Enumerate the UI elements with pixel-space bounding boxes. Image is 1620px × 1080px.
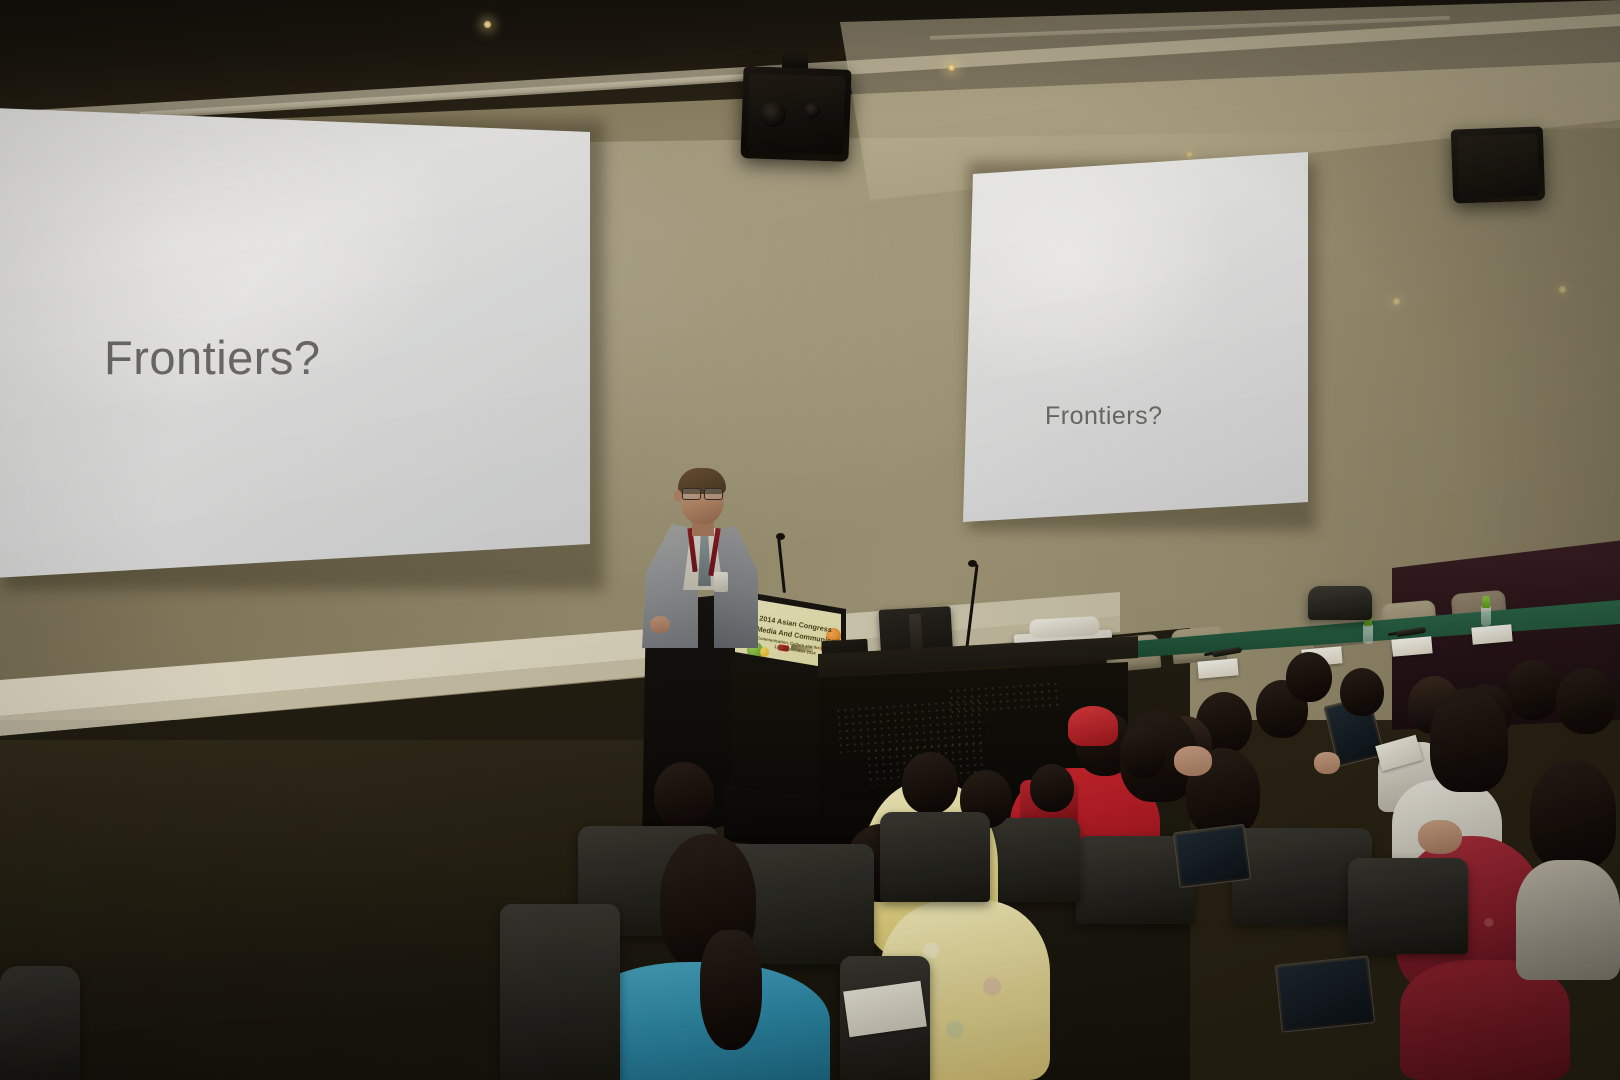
ceiling-downlight-1 — [483, 20, 492, 29]
left-projection-screen: Frontiers? — [0, 108, 590, 578]
audience-seat — [0, 966, 80, 1080]
audience-head — [1340, 668, 1384, 716]
audience-head — [902, 752, 958, 814]
slide-title-left: Frontiers? — [104, 330, 321, 385]
screen-sheen-right — [963, 152, 1308, 522]
audience-hand — [1418, 820, 1462, 854]
audience-head — [1506, 660, 1560, 720]
speaker-enclosure — [740, 66, 851, 162]
audience-seat — [1348, 858, 1468, 954]
audience-head — [1120, 728, 1166, 778]
audience-head — [654, 762, 714, 828]
audience-hand — [1314, 752, 1340, 774]
audience-head — [1430, 688, 1508, 792]
eyeglasses-icon — [682, 488, 724, 498]
eyeglass-lens-right — [704, 488, 723, 500]
name-card-1 — [1197, 658, 1238, 678]
water-bottle-2[interactable] — [1480, 596, 1492, 626]
audience-head — [1530, 760, 1616, 868]
presenter-speaker — [628, 468, 758, 648]
audience-hand — [1174, 746, 1212, 776]
audience-seat — [1308, 586, 1372, 620]
audience-ponytail — [700, 930, 762, 1050]
ceiling-downlight-5 — [1392, 297, 1401, 306]
bottle-cap — [1482, 596, 1490, 608]
bottle-body — [1481, 606, 1491, 626]
audience-seat — [880, 812, 990, 902]
ceiling-downlight-6 — [1558, 285, 1567, 294]
eyeglass-lens-left — [682, 488, 701, 500]
audience-body-grey — [1516, 860, 1620, 980]
audience-head — [1030, 764, 1074, 812]
name-card-3 — [1391, 636, 1432, 656]
logo-blob-yellow — [760, 647, 769, 657]
ceiling-downlight-2 — [947, 63, 956, 72]
audience-tablet[interactable] — [1275, 955, 1376, 1032]
speaker-enclosure-2 — [1451, 126, 1546, 203]
ceiling-downlight-3 — [1185, 150, 1194, 159]
desk-mic-head — [968, 560, 977, 567]
slide-title-right: Frontiers? — [1045, 402, 1163, 431]
conference-hall-photo: Frontiers? Frontiers? — [0, 0, 1620, 1080]
presenter-ear — [674, 490, 682, 502]
tablet-screen — [1176, 827, 1248, 885]
presenter-hand — [650, 616, 670, 633]
audience-tablet[interactable] — [1173, 824, 1251, 888]
audience-red-cap — [1068, 706, 1118, 746]
bottle-body — [1363, 624, 1373, 644]
audience-seat — [500, 904, 620, 1080]
podium-mic-head — [776, 533, 785, 540]
audience-head — [1556, 668, 1616, 734]
presenter-badge — [714, 572, 728, 592]
telephone-handset[interactable] — [1029, 616, 1100, 639]
right-projection-screen: Frontiers? — [963, 152, 1308, 522]
tablet-screen — [1278, 959, 1372, 1030]
name-card-4 — [1471, 624, 1512, 644]
audience-head — [1286, 652, 1332, 702]
speaker-grille-2 — [1457, 134, 1539, 199]
